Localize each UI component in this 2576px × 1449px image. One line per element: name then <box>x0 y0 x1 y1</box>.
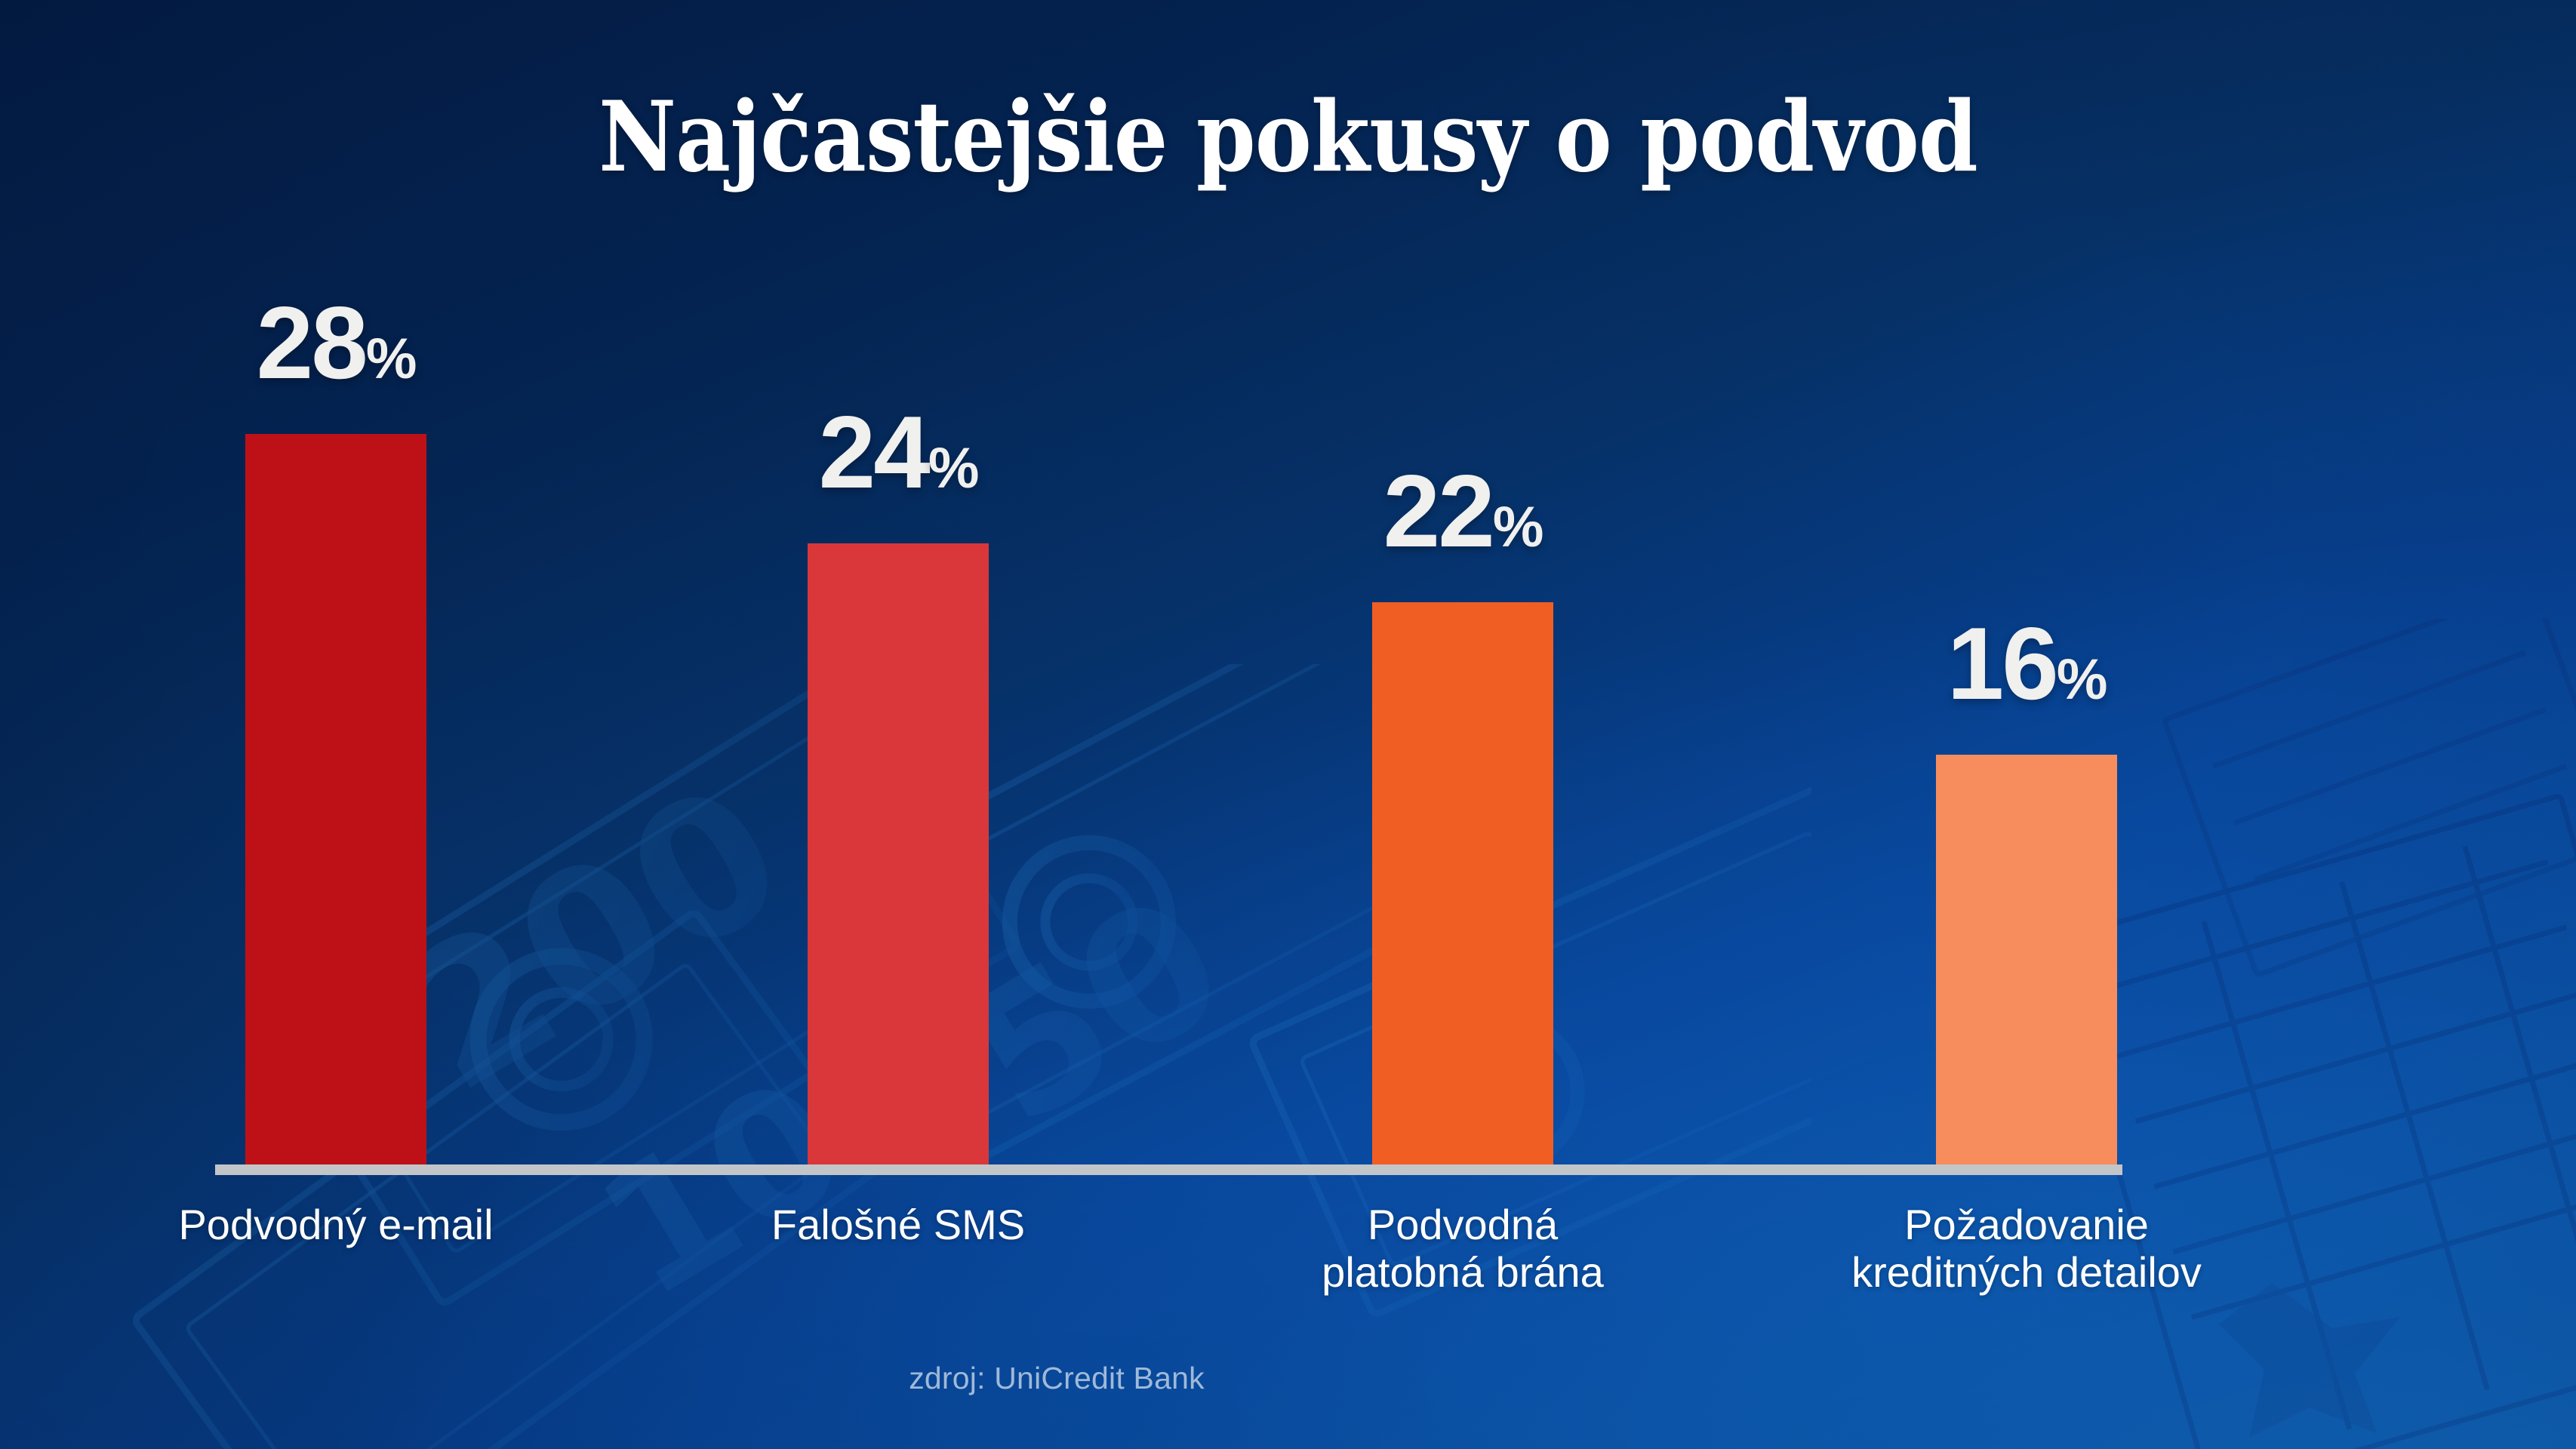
bar-label-line1-2: Falošné SMS <box>771 1201 1025 1248</box>
bar-label-line2-4: kreditných detailov <box>1851 1249 2202 1297</box>
bar-group-1: 28% Podvodný e-mail <box>245 0 426 1449</box>
bar-value-number-1: 28 <box>257 285 366 400</box>
bar-group-4: 16% Požadovanie kreditných detailov <box>1936 0 2117 1449</box>
bar-label-line1-4: Požadovanie <box>1904 1201 2149 1248</box>
bar-group-2: 24% Falošné SMS <box>808 0 989 1449</box>
axis-baseline <box>215 1164 2122 1175</box>
source-note: zdroj: UniCredit Bank <box>0 1361 2113 1396</box>
bar-label-4: Požadovanie kreditných detailov <box>1851 1201 2202 1296</box>
bar-chart: 28% Podvodný e-mail 24% Falošné SMS 22% <box>0 0 2576 1449</box>
bar-value-percent-4: % <box>2057 648 2107 712</box>
bar-label-3: Podvodná platobná brána <box>1322 1201 1604 1296</box>
infographic-canvas: 200 100 50 <box>0 0 2576 1449</box>
bar-value-number-3: 22 <box>1383 454 1493 568</box>
bar-value-4: 16% <box>1947 612 2107 715</box>
bar-value-1: 28% <box>257 291 416 394</box>
bar-label-line1-3: Podvodná <box>1368 1201 1558 1248</box>
bar-rect-4[interactable] <box>1936 755 2117 1164</box>
bar-value-number-2: 24 <box>819 395 928 509</box>
bar-value-percent-3: % <box>1493 495 1543 559</box>
bar-group-3: 22% Podvodná platobná brána <box>1372 0 1553 1449</box>
bar-label-line1-1: Podvodný e-mail <box>178 1201 493 1248</box>
bar-label-line2-3: platobná brána <box>1322 1249 1604 1297</box>
bar-rect-2[interactable] <box>808 543 989 1164</box>
bar-value-number-4: 16 <box>1947 606 2057 721</box>
bar-value-2: 24% <box>819 401 978 503</box>
bar-rect-3[interactable] <box>1372 602 1553 1164</box>
bar-value-percent-1: % <box>366 327 416 391</box>
bar-value-3: 22% <box>1383 460 1543 562</box>
bar-label-1: Podvodný e-mail <box>178 1201 493 1249</box>
bar-rect-1[interactable] <box>245 434 426 1164</box>
bar-label-2: Falošné SMS <box>771 1201 1025 1249</box>
bar-value-percent-2: % <box>928 436 978 500</box>
